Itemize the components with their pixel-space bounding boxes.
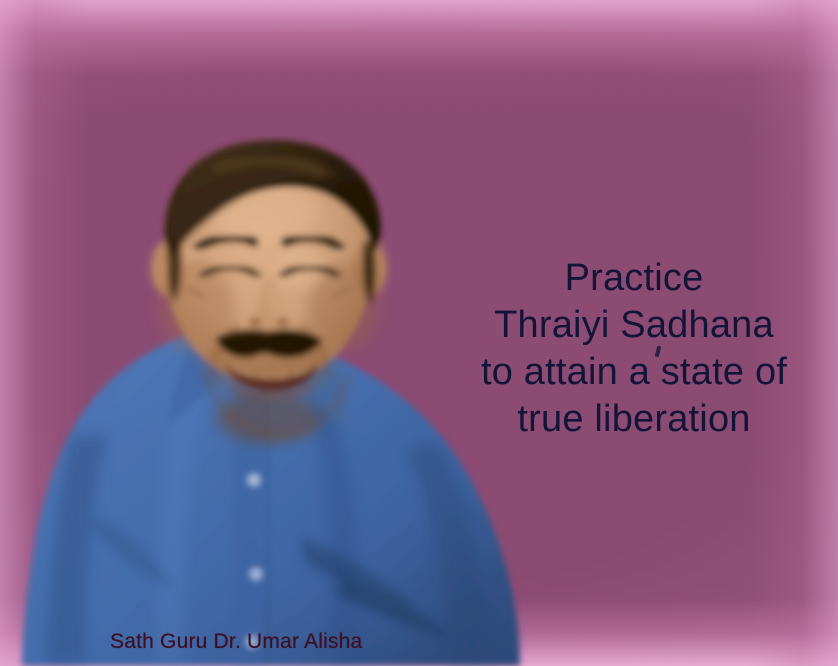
quote-line-1: Practice [438, 255, 830, 302]
background-top-glow [0, 0, 838, 120]
quote-poster: Practice Thraiyi Sadhana to attain a sta… [0, 0, 838, 666]
quote-line-3: to attain a state of [438, 349, 830, 396]
quote-line-4: true liberation [438, 396, 830, 443]
quote-line-3-text: to attain a state of [481, 351, 787, 393]
quote-text: Practice Thraiyi Sadhana to attain a sta… [438, 255, 830, 443]
quote-line-2: Thraiyi Sadhana [438, 302, 830, 349]
subject-caption: Sath Guru Dr. Umar Alisha [110, 629, 362, 655]
